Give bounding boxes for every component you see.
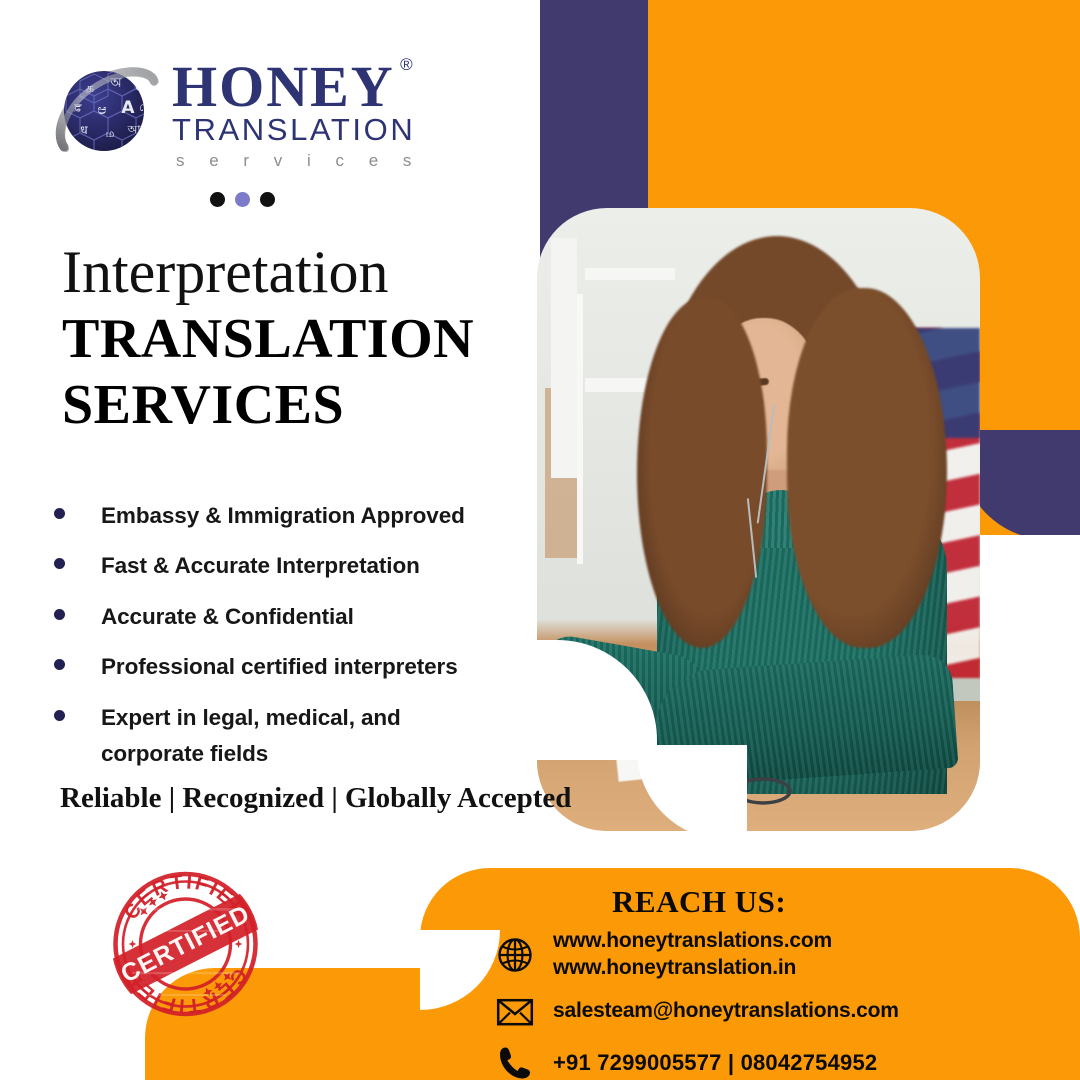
list-item-label: Accurate & Confidential bbox=[101, 599, 354, 635]
phone-icon bbox=[494, 1042, 536, 1080]
photo-shelf-post bbox=[551, 238, 577, 478]
list-item-label: Fast & Accurate Interpretation bbox=[101, 548, 420, 584]
list-item-label: Expert in legal, medical, and corporate … bbox=[101, 700, 471, 773]
contact-row-email[interactable]: salesteam@honeytranslations.com bbox=[494, 991, 1054, 1033]
photo-shelf-line bbox=[577, 294, 583, 564]
reach-us-title: REACH US: bbox=[612, 884, 786, 920]
brand-logo[interactable]: க অ ह ਫ਼ ಆ A ে ध ம আ HONEY® TRANSLATION s… bbox=[50, 50, 470, 180]
contact-list: www.honeytranslations.com www.honeytrans… bbox=[494, 928, 1054, 1080]
dot-2 bbox=[235, 192, 250, 207]
page-title-line-1: TRANSLATION bbox=[62, 306, 474, 372]
envelope-icon bbox=[494, 991, 536, 1033]
list-item: Embassy & Immigration Approved bbox=[54, 498, 524, 534]
website-line-1: www.honeytranslations.com bbox=[553, 928, 832, 955]
photo-hair-left bbox=[637, 298, 767, 648]
logo-honey-text: HONEY® bbox=[172, 59, 395, 114]
page-title-script: Interpretation bbox=[62, 238, 389, 307]
tagline: Reliable | Recognized | Globally Accepte… bbox=[60, 782, 571, 815]
bullet-dot-icon bbox=[54, 609, 65, 620]
contact-phone-text: +91 7299005577 | 08042754952 bbox=[553, 1049, 877, 1077]
certified-stamp-icon: CERTIFIED CERTIFIED CERTIFIE bbox=[108, 868, 263, 1020]
contact-email-text: salesteam@honeytranslations.com bbox=[553, 998, 899, 1025]
svg-text:ம: ம bbox=[106, 127, 115, 140]
svg-text:ह: ह bbox=[135, 79, 141, 92]
photo-hair-right bbox=[787, 288, 947, 648]
features-list: Embassy & Immigration Approved Fast & Ac… bbox=[54, 498, 524, 787]
globe-languages-icon: க অ ह ਫ਼ ಆ A ে ध ம আ bbox=[50, 59, 162, 171]
bullet-dot-icon bbox=[54, 710, 65, 721]
page-title-bold: TRANSLATION SERVICES bbox=[62, 306, 474, 438]
list-item: Fast & Accurate Interpretation bbox=[54, 548, 524, 584]
website-line-2: www.honeytranslation.in bbox=[553, 955, 832, 982]
list-item-label: Embassy & Immigration Approved bbox=[101, 498, 465, 534]
svg-text:A: A bbox=[121, 98, 135, 118]
bullet-dot-icon bbox=[54, 508, 65, 519]
contact-website-lines: www.honeytranslations.com www.honeytrans… bbox=[553, 928, 832, 982]
dot-1 bbox=[210, 192, 225, 207]
list-item: Expert in legal, medical, and corporate … bbox=[54, 700, 524, 773]
photo-shelf-board-upper bbox=[585, 268, 675, 280]
logo-wordmark: HONEY® TRANSLATION s e r v i c e s bbox=[172, 59, 421, 172]
poster-canvas: க অ ह ਫ਼ ಆ A ে ध ம আ HONEY® TRANSLATION s… bbox=[0, 0, 1080, 1080]
bullet-dot-icon bbox=[54, 659, 65, 670]
contact-row-website[interactable]: www.honeytranslations.com www.honeytrans… bbox=[494, 928, 1054, 982]
registered-trademark-icon: ® bbox=[400, 57, 415, 73]
list-item-label: Professional certified interpreters bbox=[101, 649, 458, 685]
logo-honey-label: HONEY bbox=[172, 54, 395, 119]
globe-icon bbox=[494, 934, 536, 976]
dot-3 bbox=[260, 192, 275, 207]
svg-text:আ: আ bbox=[127, 123, 141, 136]
list-item: Accurate & Confidential bbox=[54, 599, 524, 635]
svg-text:ಆ: ಆ bbox=[97, 102, 106, 118]
list-item: Professional certified interpreters bbox=[54, 649, 524, 685]
svg-text:ध: ध bbox=[80, 123, 88, 137]
svg-text:ে: ে bbox=[139, 103, 152, 114]
bullet-dot-icon bbox=[54, 558, 65, 569]
logo-services-text: s e r v i c e s bbox=[176, 151, 421, 171]
contact-row-phone[interactable]: +91 7299005577 | 08042754952 bbox=[494, 1042, 1054, 1080]
dots-divider bbox=[210, 192, 275, 207]
page-title-line-2: SERVICES bbox=[62, 372, 474, 438]
